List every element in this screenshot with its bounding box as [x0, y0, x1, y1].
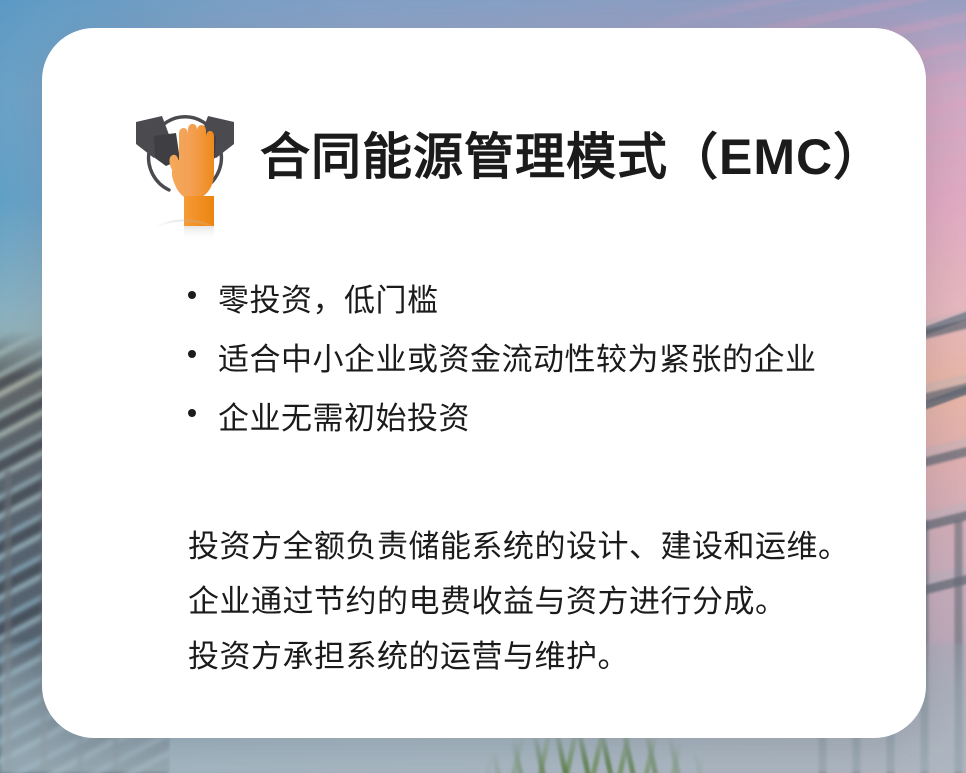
- list-item-label: 适合中小企业或资金流动性较为紧张的企业: [218, 341, 817, 379]
- paragraph-line: 投资方全额负责储能系统的设计、建设和运维。: [188, 528, 908, 566]
- bullet-dot-icon: [188, 291, 196, 299]
- list-item-label: 企业无需初始投资: [218, 400, 470, 438]
- list-item: 适合中小企业或资金流动性较为紧张的企业: [188, 341, 888, 379]
- description-paragraphs: 投资方全额负责储能系统的设计、建设和运维。 企业通过节约的电费收益与资方进行分成…: [188, 528, 908, 676]
- list-item-label: 零投资，低门槛: [218, 282, 439, 320]
- paragraph-line: 投资方承担系统的运营与维护。: [188, 638, 908, 676]
- page-title: 合同能源管理模式（EMC）: [260, 127, 884, 187]
- poster-canvas: 合同能源管理模式（EMC） 零投资，低门槛 适合中小企业或资金流动性较为紧张的企…: [0, 0, 966, 773]
- hand-in-circle-logo-icon: [124, 100, 246, 245]
- paragraph-line: 企业通过节约的电费收益与资方进行分成。: [188, 583, 908, 621]
- list-item: 零投资，低门槛: [188, 282, 888, 320]
- list-item: 企业无需初始投资: [188, 400, 888, 438]
- content-card: 合同能源管理模式（EMC） 零投资，低门槛 适合中小企业或资金流动性较为紧张的企…: [42, 28, 926, 738]
- bullet-dot-icon: [188, 409, 196, 417]
- feature-bullet-list: 零投资，低门槛 适合中小企业或资金流动性较为紧张的企业 企业无需初始投资: [188, 282, 888, 459]
- bullet-dot-icon: [188, 350, 196, 358]
